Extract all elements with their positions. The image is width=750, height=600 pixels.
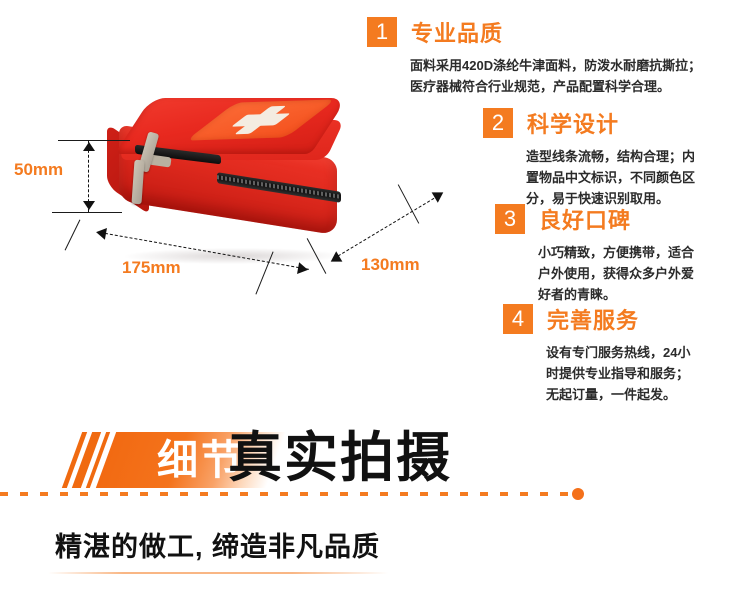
arrow-head-left-icon — [95, 226, 107, 240]
dimension-label-depth: 130mm — [361, 255, 420, 275]
feature-block-1: 1 专业品质 面料采用420D涤纶牛津面料，防泼水耐磨抗撕拉； 医疗器械符合行业… — [367, 16, 750, 97]
feature-4-header: 4 完善服务 — [503, 303, 750, 335]
arrow-head-far-icon — [432, 187, 447, 202]
feature-block-3: 3 良好口碑 小巧精致，方便携带，适合 户外使用，获得众多户外爱 好者的青睐。 — [495, 203, 750, 305]
feature-2-number-badge: 2 — [483, 108, 513, 138]
product-image-first-aid-bag — [105, 98, 360, 263]
feature-1-title: 专业品质 — [411, 16, 503, 48]
feature-1-header: 1 专业品质 — [367, 16, 750, 48]
feature-block-2: 2 科学设计 造型线条流畅，结构合理；内 置物品中文标识，不同颜色区 分，易于快… — [483, 107, 748, 209]
arrow-head-down-icon — [83, 201, 95, 210]
arrow-head-right-icon — [297, 262, 309, 276]
feature-block-4: 4 完善服务 设有专门服务热线，24小 时提供专业指导和服务； 无起订量，一件起… — [503, 303, 750, 405]
banner-subtitle-underline — [48, 572, 388, 574]
feature-2-title: 科学设计 — [527, 107, 619, 139]
dimension-label-height: 50mm — [14, 160, 63, 180]
feature-4-title: 完善服务 — [547, 303, 639, 335]
banner-title: 真实拍摄 — [228, 428, 452, 488]
feature-4-body: 设有专门服务热线，24小 时提供专业指导和服务； 无起订量，一件起发。 — [546, 342, 750, 405]
dimension-label-width: 175mm — [122, 258, 181, 278]
feature-2-body: 造型线条流畅，结构合理；内 置物品中文标识，不同颜色区 分，易于快速识别取用。 — [526, 146, 748, 209]
feature-1-number-badge: 1 — [367, 17, 397, 47]
banner-subtitle: 精湛的做工, 缔造非凡品质 — [55, 528, 380, 566]
width-leader-left — [65, 220, 81, 251]
feature-2-header: 2 科学设计 — [483, 107, 748, 139]
banner-dotted-divider — [0, 492, 580, 496]
feature-3-body: 小巧精致，方便携带，适合 户外使用，获得众多户外爱 好者的青睐。 — [538, 242, 750, 305]
feature-3-number-badge: 3 — [495, 204, 525, 234]
height-guide-top — [58, 140, 130, 141]
medical-cross-icon — [186, 99, 336, 140]
product-detail-page: 50mm 175mm 130mm 1 专业品质 面料采用420D涤纶牛津面料，防… — [0, 0, 750, 600]
feature-3-header: 3 良好口碑 — [495, 203, 750, 235]
banner-divider-end-dot — [572, 488, 584, 500]
height-guide-bottom — [52, 212, 122, 213]
feature-4-number-badge: 4 — [503, 304, 533, 334]
feature-3-title: 良好口碑 — [539, 203, 631, 235]
feature-1-body: 面料采用420D涤纶牛津面料，防泼水耐磨抗撕拉； 医疗器械符合行业规范，产品配置… — [410, 55, 750, 97]
arrow-head-up-icon — [83, 142, 95, 151]
